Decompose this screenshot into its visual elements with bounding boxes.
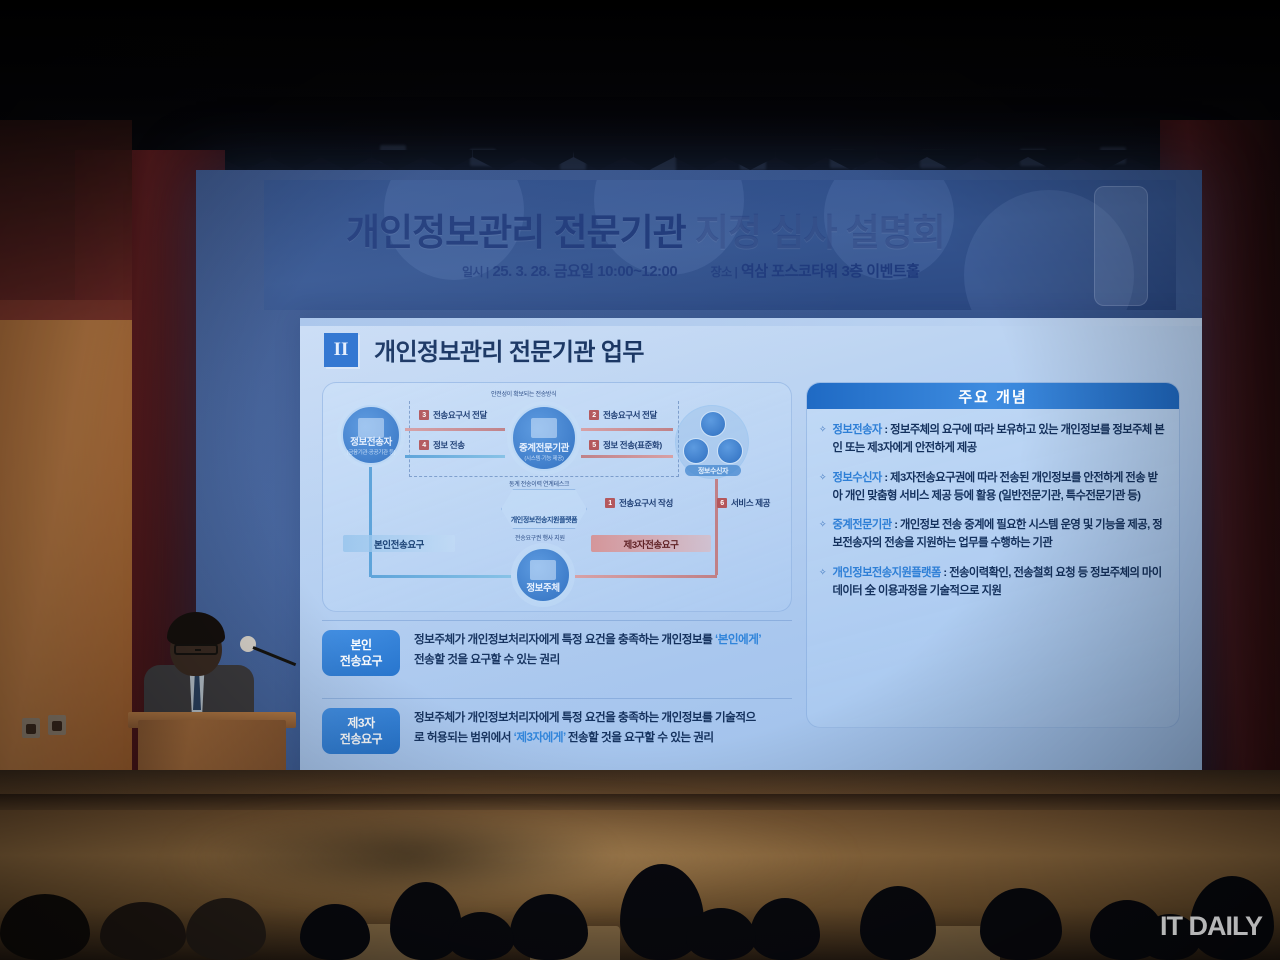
definition-row-third-party: 제3자 전송요구 정보주체가 개인정보처리자에게 특정 요건을 충족하는 개인정…	[322, 708, 764, 754]
definition-tag-third-party: 제3자 전송요구	[322, 708, 400, 754]
audience-head	[186, 898, 266, 960]
watermark: IT DAILY	[1160, 911, 1262, 942]
node-label: 정보수신자	[685, 465, 741, 476]
audience-head	[750, 898, 820, 960]
receiver-icon	[683, 438, 709, 464]
platform-note: 전송요구권 행사 지원	[515, 533, 565, 542]
node-data-receiver-cluster: 정보수신자	[675, 405, 749, 479]
step-text: 전송요구서 전달	[433, 409, 487, 421]
definition-text-pre: 정보주체가 개인정보처리자에게 특정 요건을 충족하는 개인정보를	[414, 633, 715, 646]
banner-phone-graphic	[1094, 186, 1148, 306]
concept-term: 개인정보전송지원플랫폼	[833, 567, 941, 579]
presenter-glasses	[174, 644, 218, 655]
diamond-bullet-icon: ✧	[819, 516, 827, 553]
connector-sender-vertical	[369, 467, 372, 577]
building-icon	[358, 418, 384, 438]
projection-screen: 개인정보관리 전문기관 지정 심사 설명회 일시 | 25. 3. 28. 금요…	[196, 170, 1202, 815]
step-1-label: 1 전송요구서 작성	[605, 497, 673, 509]
audience-head	[860, 886, 936, 960]
wall-socket	[48, 715, 66, 735]
definition-text-post: 전송할 것을 요구할 수 있는 권리	[565, 731, 713, 744]
tag-line-2: 전송요구	[340, 731, 382, 747]
banner-subtitle: 일시 | 25. 3. 28. 금요일 10:00~12:00 장소 | 역삼 …	[462, 260, 919, 281]
ceiling-scallop-trim	[220, 150, 1230, 170]
concept-item: ✧ 정보전송자 : 정보주체의 요구에 따라 보유하고 있는 개인정보를 정보주…	[819, 421, 1165, 458]
audience-head	[686, 908, 756, 960]
step-number: 1	[605, 498, 615, 508]
event-banner: 개인정보관리 전문기관 지정 심사 설명회 일시 | 25. 3. 28. 금요…	[264, 180, 1176, 310]
slide-top-accent	[300, 318, 1202, 326]
banner-date-label: 일시 |	[462, 265, 489, 279]
diamond-bullet-icon: ✧	[819, 421, 827, 458]
audience	[0, 810, 1280, 960]
key-concepts-panel: 주요 개념 ✧ 정보전송자 : 정보주체의 요구에 따라 보유하고 있는 개인정…	[806, 382, 1180, 728]
node-intermediary-agency: 중계전문기관 (시스템·기능 제공)	[511, 405, 577, 471]
concept-text: 중계전문기관 : 개인정보 전송 중계에 필요한 시스템 운영 및 기능을 제공…	[833, 516, 1165, 553]
diamond-bullet-icon: ✧	[819, 469, 827, 506]
banner-date-value: 25. 3. 28. 금요일 10:00~12:00	[492, 263, 677, 280]
audience-head	[300, 904, 370, 960]
building-icon	[531, 418, 557, 438]
node-sublabel: (금융기관·공공기관 등)	[347, 448, 396, 456]
diamond-bullet-icon: ✧	[819, 564, 827, 601]
banner-title: 개인정보관리 전문기관 지정 심사 설명회	[346, 202, 945, 256]
concept-text: 개인정보전송지원플랫폼 : 전송이력확인, 전송철회 요청 등 정보주체의 마이…	[833, 564, 1165, 601]
concept-text: 정보전송자 : 정보주체의 요구에 따라 보유하고 있는 개인정보를 정보주체 …	[833, 421, 1165, 458]
step-text: 서비스 제공	[731, 497, 770, 509]
slide-title: 개인정보관리 전문기관 업무	[374, 332, 644, 367]
tag-line-1: 제3자	[347, 715, 374, 731]
definition-text-post: 전송할 것을 요구할 수 있는 권리	[414, 653, 560, 666]
audience-head	[100, 902, 186, 960]
definition-text-highlight: ‘제3자에게’	[514, 731, 566, 744]
step-5-label: 5 정보 전송(표준화)	[589, 439, 662, 451]
audience-head	[0, 894, 90, 960]
audience-head	[980, 888, 1062, 960]
presenter-hair	[167, 612, 225, 646]
arrow-left-upper	[405, 428, 505, 431]
connector-receiver-vertical	[715, 479, 718, 575]
key-concepts-list: ✧ 정보전송자 : 정보주체의 요구에 따라 보유하고 있는 개인정보를 정보주…	[807, 409, 1179, 600]
key-concepts-heading: 주요 개념	[807, 383, 1179, 409]
definition-text-self: 정보주체가 개인정보처리자에게 특정 요건을 충족하는 개인정보를 ‘본인에게’…	[414, 630, 764, 670]
arrow-right-lower	[581, 455, 673, 458]
audience-head	[448, 912, 514, 960]
tag-line-2: 전송요구	[340, 653, 382, 669]
step-number: 6	[717, 498, 727, 508]
concept-body: : 제3자전송요구권에 따라 전송된 개인정보를 안전하게 전송 받아 개인 맞…	[833, 472, 1158, 502]
presentation-slide: II 개인정보관리 전문기관 업무 안전성이 확보되는 전송방식 정보전송자 (…	[300, 318, 1202, 790]
platform-label: 개인정보전송지원플랫폼	[511, 515, 577, 525]
concept-text: 정보수신자 : 제3자전송요구권에 따라 전송된 개인정보를 안전하게 전송 받…	[833, 469, 1165, 506]
node-data-sender: 정보전송자 (금융기관·공공기관 등)	[341, 405, 401, 465]
step-6-label: 6 서비스 제공	[717, 497, 770, 509]
definition-tag-self: 본인 전송요구	[322, 630, 400, 676]
flow-diagram-panel: 안전성이 확보되는 전송방식 정보전송자 (금융기관·공공기관 등) 중계전문기…	[322, 382, 792, 612]
step-text: 정보 전송(표준화)	[603, 439, 662, 451]
concept-term: 중계전문기관	[833, 519, 892, 531]
pill-third-party-transfer-request: 제3자전송요구	[591, 535, 711, 552]
arrow-left-lower	[405, 455, 505, 458]
wall-socket	[22, 718, 40, 738]
step-text: 전송요구서 작성	[619, 497, 673, 509]
node-label: 정보주체	[526, 580, 559, 594]
step-number: 4	[419, 440, 429, 450]
step-3-label: 3 전송요구서 전달	[419, 409, 487, 421]
photo-scene: 개인정보관리 전문기관 지정 심사 설명회 일시 | 25. 3. 28. 금요…	[0, 0, 1280, 960]
definition-text-third-party: 정보주체가 개인정보처리자에게 특정 요건을 충족하는 개인정보를 기술적으로 …	[414, 708, 764, 748]
microphone-stem	[252, 646, 296, 666]
step-4-label: 4 정보 전송	[419, 439, 465, 451]
receiver-icon	[717, 438, 743, 464]
concept-item: ✧ 중계전문기관 : 개인정보 전송 중계에 필요한 시스템 운영 및 기능을 …	[819, 516, 1165, 553]
support-platform-node: 개인정보전송지원플랫폼	[501, 489, 587, 529]
node-label: 중계전문기관	[519, 440, 569, 454]
banner-place-value: 역삼 포스코타워 3층 이벤트홀	[741, 263, 919, 280]
step-text: 정보 전송	[433, 439, 465, 451]
concept-term: 정보수신자	[833, 472, 882, 484]
slide-title-row: II 개인정보관리 전문기관 업무	[324, 332, 644, 367]
tag-line-1: 본인	[350, 637, 371, 653]
audience-head	[510, 894, 588, 960]
receiver-icon	[700, 411, 726, 437]
step-2-label: 2 전송요구서 전달	[589, 409, 657, 421]
concept-item: ✧ 개인정보전송지원플랫폼 : 전송이력확인, 전송철회 요청 등 정보주체의 …	[819, 564, 1165, 601]
step-number: 3	[419, 410, 429, 420]
concept-item: ✧ 정보수신자 : 제3자전송요구권에 따라 전송된 개인정보를 안전하게 전송…	[819, 469, 1165, 506]
step-number: 2	[589, 410, 599, 420]
divider-top	[322, 620, 792, 621]
banner-place-label: 장소 |	[711, 265, 738, 279]
definition-row-self: 본인 전송요구 정보주체가 개인정보처리자에게 특정 요건을 충족하는 개인정보…	[322, 630, 764, 676]
diagram-top-note: 안전성이 확보되는 전송방식	[491, 389, 556, 398]
concept-body: : 정보주체의 요구에 따라 보유하고 있는 개인정보를 정보주체 본인 또는 …	[833, 424, 1165, 454]
arrow-receiver-to-subject	[575, 575, 717, 578]
node-data-subject: 정보주체	[515, 547, 571, 603]
banner-title-dim: 지정 심사 설명회	[695, 212, 945, 253]
arrow-right-upper	[581, 428, 673, 431]
definition-text-highlight: ‘본인에게’	[715, 633, 761, 646]
pill-self-transfer-request: 본인전송요구	[343, 535, 455, 552]
slide-section-badge: II	[324, 333, 358, 367]
step-text: 전송요구서 전달	[603, 409, 657, 421]
diagram-bottom-note: 동계 전송이력 연계테스크	[509, 479, 569, 488]
arrow-subject-to-sender	[371, 575, 511, 578]
node-sublabel: (시스템·기능 제공)	[524, 454, 563, 462]
concept-term: 정보전송자	[833, 424, 882, 436]
person-icon	[530, 560, 556, 580]
step-number: 5	[589, 440, 599, 450]
divider-middle	[322, 698, 792, 699]
banner-title-strong: 개인정보관리 전문기관	[346, 212, 686, 253]
